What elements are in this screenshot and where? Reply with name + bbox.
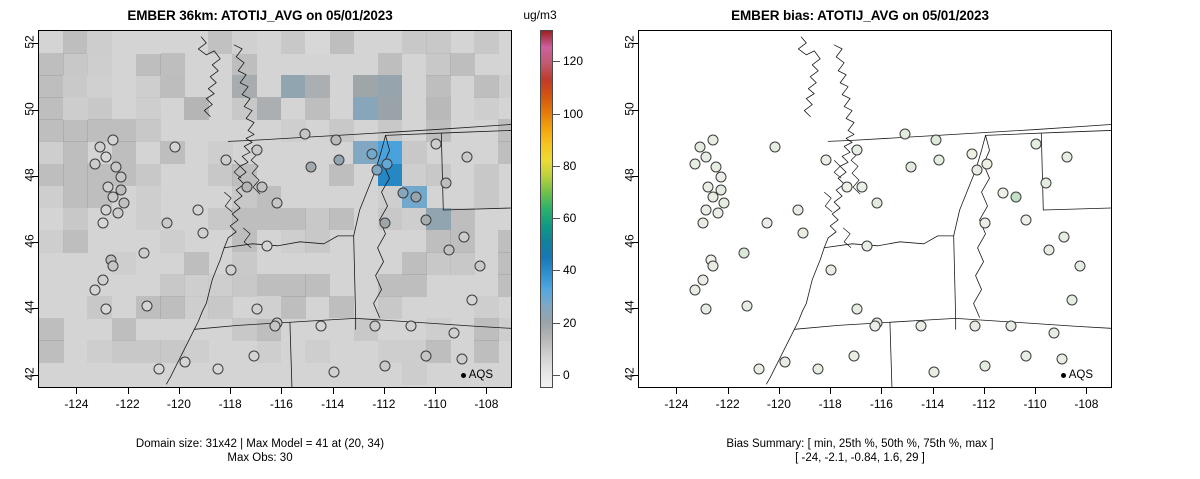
- bias-site-marker[interactable]: [979, 360, 990, 371]
- monitor-site-marker[interactable]: [100, 151, 111, 162]
- bias-site-marker[interactable]: [700, 304, 711, 315]
- monitor-site-marker[interactable]: [197, 228, 208, 239]
- monitor-site-marker[interactable]: [459, 231, 470, 242]
- bias-site-marker[interactable]: [1031, 138, 1042, 149]
- left-footer-line1: Domain size: 31x42 | Max Model = 41 at (…: [0, 437, 520, 451]
- colorbar-tick: [553, 61, 560, 62]
- monitor-site-marker[interactable]: [241, 181, 252, 192]
- colorbar-gradient-left: [540, 30, 553, 388]
- monitor-site-marker[interactable]: [90, 158, 101, 169]
- x-tick-label: -122: [716, 397, 740, 411]
- y-tick-label: 52: [22, 36, 36, 49]
- x-tick: [230, 388, 231, 394]
- monitor-site-marker[interactable]: [372, 165, 383, 176]
- x-tick: [384, 388, 385, 394]
- x-tick-label: -108: [1074, 397, 1098, 411]
- x-tick-label: -116: [870, 397, 893, 411]
- bias-site-marker[interactable]: [708, 191, 719, 202]
- monitor-site-marker[interactable]: [226, 264, 237, 275]
- colorbar-tick: [553, 114, 560, 115]
- x-tick-label: -122: [116, 397, 140, 411]
- colorbar-tick-label: 100: [563, 107, 583, 121]
- monitor-site-marker[interactable]: [331, 135, 342, 146]
- x-tick: [486, 388, 487, 394]
- colorbar-unit-left: ug/m3: [523, 8, 556, 22]
- model-map-plot[interactable]: AQS: [38, 30, 512, 388]
- bias-site-marker[interactable]: [1020, 350, 1031, 361]
- bias-site-marker[interactable]: [928, 367, 939, 378]
- aqs-legend-label: AQS: [1069, 369, 1093, 381]
- bias-site-marker[interactable]: [797, 228, 808, 239]
- x-tick: [179, 388, 180, 394]
- y-tick-label: 48: [22, 168, 36, 181]
- monitor-site-marker[interactable]: [251, 304, 262, 315]
- bias-site-marker[interactable]: [1059, 231, 1070, 242]
- bias-site-marker[interactable]: [1074, 261, 1085, 272]
- x-tick-label: -124: [664, 397, 688, 411]
- bias-site-marker[interactable]: [982, 158, 993, 169]
- bias-map-plot[interactable]: AQS: [638, 30, 1112, 388]
- monitor-site-marker[interactable]: [90, 284, 101, 295]
- monitor-site-marker[interactable]: [108, 261, 119, 272]
- bias-site-marker[interactable]: [754, 364, 765, 375]
- monitor-site-marker[interactable]: [100, 205, 111, 216]
- monitor-site-marker[interactable]: [431, 138, 442, 149]
- monitor-site-marker[interactable]: [441, 178, 452, 189]
- monitor-site-marker[interactable]: [272, 198, 283, 209]
- x-tick: [435, 388, 436, 394]
- bias-site-marker[interactable]: [841, 181, 852, 192]
- monitor-site-marker[interactable]: [420, 214, 431, 225]
- x-tick: [128, 388, 129, 394]
- bias-site-marker[interactable]: [690, 284, 701, 295]
- monitor-site-marker[interactable]: [192, 205, 203, 216]
- monitor-site-marker[interactable]: [315, 321, 326, 332]
- monitor-site-marker[interactable]: [367, 148, 378, 159]
- colorbar-tick-label: 60: [563, 211, 576, 225]
- x-tick: [830, 388, 831, 394]
- bias-site-marker[interactable]: [821, 155, 832, 166]
- bias-site-marker[interactable]: [905, 161, 916, 172]
- monitor-site-marker[interactable]: [300, 128, 311, 139]
- monitor-site-marker[interactable]: [449, 327, 460, 338]
- monitor-site-marker[interactable]: [333, 155, 344, 166]
- monitor-site-marker[interactable]: [251, 145, 262, 156]
- x-tick: [728, 388, 729, 394]
- bias-site-marker[interactable]: [739, 248, 750, 259]
- bias-site-marker[interactable]: [741, 301, 752, 312]
- colorbar-tick-label: 40: [563, 263, 576, 277]
- bias-site-marker[interactable]: [1049, 327, 1060, 338]
- bias-site-marker[interactable]: [1010, 191, 1021, 202]
- monitor-site-marker[interactable]: [115, 171, 126, 182]
- x-tick-label: -120: [767, 397, 791, 411]
- aqs-dot-icon: [1061, 373, 1066, 378]
- bias-site-marker[interactable]: [933, 155, 944, 166]
- monitor-site-marker[interactable]: [461, 151, 472, 162]
- monitor-site-marker[interactable]: [382, 158, 393, 169]
- bias-site-marker[interactable]: [872, 198, 883, 209]
- monitor-site-marker[interactable]: [328, 367, 339, 378]
- monitor-site-marker[interactable]: [108, 135, 119, 146]
- bias-site-marker[interactable]: [762, 218, 773, 229]
- monitor-site-marker[interactable]: [221, 155, 232, 166]
- x-tick-label: -114: [921, 397, 944, 411]
- x-tick: [676, 388, 677, 394]
- y-tick-label: 44: [22, 301, 36, 314]
- y-tick-label: 46: [22, 234, 36, 247]
- aqs-legend-right: AQS: [1061, 369, 1093, 381]
- x-tick: [281, 388, 282, 394]
- bias-site-marker[interactable]: [1067, 294, 1078, 305]
- y-tick-label: 50: [622, 102, 636, 115]
- monitor-site-marker[interactable]: [405, 321, 416, 332]
- monitor-site-marker[interactable]: [467, 294, 478, 305]
- colorbar-tick-label: 120: [563, 54, 583, 68]
- x-tick: [76, 388, 77, 394]
- monitor-site-marker[interactable]: [100, 304, 111, 315]
- colorbar-tick-label: 0: [563, 368, 570, 382]
- x-tick: [1035, 388, 1036, 394]
- monitor-site-marker[interactable]: [256, 181, 267, 192]
- monitor-site-marker[interactable]: [379, 360, 390, 371]
- x-tick: [933, 388, 934, 394]
- bias-site-marker[interactable]: [1043, 244, 1054, 255]
- left-panel: EMBER 36km: ATOTIJ_AVG on 05/01/2023: [0, 0, 600, 479]
- x-axis-left: -124-122-120-118-116-114-112-110-108: [38, 388, 514, 418]
- monitor-site-marker[interactable]: [169, 142, 180, 153]
- colorbar-tick: [553, 375, 560, 376]
- bias-site-marker[interactable]: [851, 145, 862, 156]
- y-tick-label: 44: [622, 301, 636, 314]
- left-footer-line2: Max Obs: 30: [0, 451, 520, 465]
- monitor-site-marker[interactable]: [162, 218, 173, 229]
- x-tick-label: -116: [270, 397, 293, 411]
- monitor-site-marker[interactable]: [139, 248, 150, 259]
- right-panel: EMBER bias: ATOTIJ_AVG on 05/01/2023: [600, 0, 1200, 479]
- bias-site-marker[interactable]: [813, 364, 824, 375]
- bias-site-marker[interactable]: [769, 142, 780, 153]
- x-tick-label: -110: [424, 397, 447, 411]
- page-title-bias: EMBER bias: ATOTIJ_AVG on 05/01/2023: [600, 8, 1120, 23]
- bias-site-marker[interactable]: [849, 350, 860, 361]
- colorbar-tick-label: 80: [563, 159, 576, 173]
- monitor-site-marker[interactable]: [397, 188, 408, 199]
- colorbar-tick-label: 20: [563, 316, 576, 330]
- y-axis-left: 525048464442: [0, 30, 38, 390]
- aqs-dot-icon: [461, 373, 466, 378]
- bias-site-marker[interactable]: [967, 148, 978, 159]
- y-tick-label: 42: [622, 367, 636, 380]
- monitor-site-marker[interactable]: [420, 350, 431, 361]
- bias-site-marker[interactable]: [792, 205, 803, 216]
- x-tick-label: -120: [167, 397, 191, 411]
- monitor-site-marker[interactable]: [98, 218, 109, 229]
- monitor-site-marker[interactable]: [154, 364, 165, 375]
- bias-site-marker[interactable]: [972, 165, 983, 176]
- colorbar-tick: [553, 270, 560, 271]
- monitor-site-marker[interactable]: [379, 218, 390, 229]
- y-tick-label: 50: [22, 102, 36, 115]
- bias-site-marker[interactable]: [690, 158, 701, 169]
- y-tick-label: 48: [622, 168, 636, 181]
- monitor-site-marker[interactable]: [474, 261, 485, 272]
- monitor-site-marker[interactable]: [108, 191, 119, 202]
- bias-site-marker[interactable]: [851, 304, 862, 315]
- bias-site-marker[interactable]: [931, 135, 942, 146]
- y-tick-label: 42: [22, 367, 36, 380]
- bias-site-marker[interactable]: [1020, 214, 1031, 225]
- bias-site-marker[interactable]: [700, 151, 711, 162]
- left-footer: Domain size: 31x42 | Max Model = 41 at (…: [0, 437, 520, 465]
- bias-site-marker[interactable]: [979, 218, 990, 229]
- monitor-site-marker[interactable]: [98, 274, 109, 285]
- x-tick-label: -112: [972, 397, 995, 411]
- bias-site-marker[interactable]: [713, 208, 724, 219]
- monitor-site-marker[interactable]: [113, 208, 124, 219]
- x-tick: [1086, 388, 1087, 394]
- x-tick-label: -124: [64, 397, 88, 411]
- x-tick-label: -108: [474, 397, 498, 411]
- monitor-site-marker[interactable]: [141, 301, 152, 312]
- bias-site-marker[interactable]: [698, 218, 709, 229]
- bias-site-marker[interactable]: [698, 274, 709, 285]
- bias-site-marker[interactable]: [708, 135, 719, 146]
- bias-site-marker[interactable]: [1041, 178, 1052, 189]
- monitor-site-marker[interactable]: [249, 350, 260, 361]
- right-footer-line2: [ -24, -2.1, -0.84, 1.6, 29 ]: [600, 451, 1120, 465]
- aqs-legend-left: AQS: [461, 369, 493, 381]
- colorbar-tick: [553, 166, 560, 167]
- x-tick-label: -114: [321, 397, 344, 411]
- bias-site-marker[interactable]: [715, 171, 726, 182]
- right-footer: Bias Summary: [ min, 25th %, 50th %, 75t…: [600, 437, 1120, 465]
- x-axis-right: -124-122-120-118-116-114-112-110-108: [638, 388, 1114, 418]
- bias-site-marker[interactable]: [1061, 151, 1072, 162]
- monitor-site-marker[interactable]: [180, 357, 191, 368]
- bias-site-marker[interactable]: [856, 181, 867, 192]
- bias-site-marker[interactable]: [708, 261, 719, 272]
- monitor-site-marker[interactable]: [369, 321, 380, 332]
- x-tick-label: -110: [1024, 397, 1047, 411]
- bias-site-marker[interactable]: [1005, 321, 1016, 332]
- right-footer-line1: Bias Summary: [ min, 25th %, 50th %, 75t…: [600, 437, 1120, 451]
- monitor-site-marker[interactable]: [410, 191, 421, 202]
- bias-site-marker[interactable]: [1056, 354, 1067, 365]
- x-tick: [333, 388, 334, 394]
- x-tick: [779, 388, 780, 394]
- x-tick: [984, 388, 985, 394]
- bias-site-marker[interactable]: [915, 321, 926, 332]
- monitor-site-marker[interactable]: [443, 244, 454, 255]
- aqs-legend-label: AQS: [469, 369, 493, 381]
- bias-site-marker[interactable]: [869, 321, 880, 332]
- monitor-site-marker[interactable]: [262, 241, 273, 252]
- bias-site-marker[interactable]: [826, 264, 837, 275]
- y-tick-label: 46: [622, 234, 636, 247]
- x-tick-label: -118: [819, 397, 842, 411]
- x-tick-label: -118: [219, 397, 242, 411]
- monitor-site-marker[interactable]: [269, 321, 280, 332]
- bias-site-marker[interactable]: [997, 188, 1008, 199]
- monitor-site-marker[interactable]: [305, 161, 316, 172]
- bias-site-marker[interactable]: [900, 128, 911, 139]
- bias-site-marker[interactable]: [780, 357, 791, 368]
- colorbar-tick: [553, 323, 560, 324]
- monitor-site-marker[interactable]: [456, 354, 467, 365]
- x-tick-label: -112: [372, 397, 395, 411]
- page-title: EMBER 36km: ATOTIJ_AVG on 05/01/2023: [0, 8, 520, 23]
- x-tick: [881, 388, 882, 394]
- bias-site-marker[interactable]: [700, 205, 711, 216]
- y-axis-right: 525048464442: [600, 30, 638, 390]
- colorbar-tick: [553, 218, 560, 219]
- y-tick-label: 52: [622, 36, 636, 49]
- bias-site-marker[interactable]: [969, 321, 980, 332]
- monitor-site-marker[interactable]: [213, 364, 224, 375]
- bias-site-marker[interactable]: [862, 241, 873, 252]
